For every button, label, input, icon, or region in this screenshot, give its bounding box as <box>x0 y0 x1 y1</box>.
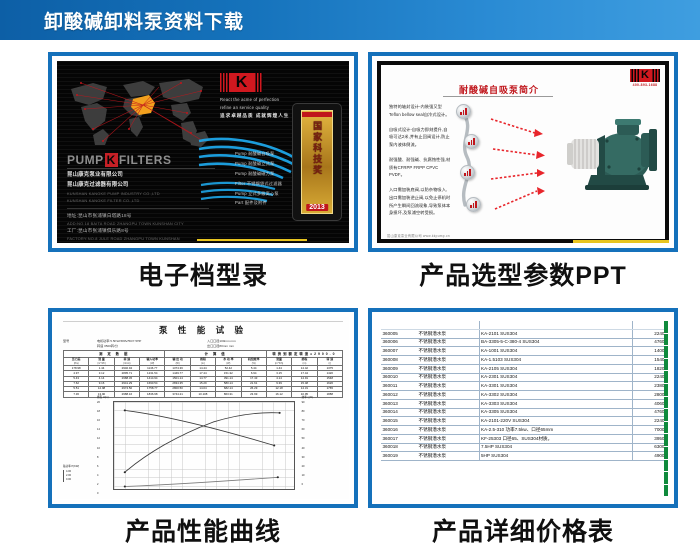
address-2: 工厂:昆山市张浦镇俱乐路8号 <box>67 227 219 235</box>
slogan-en-1: React the acme of perfection <box>220 96 289 104</box>
table-row: 360012不锈钢潜水泵KA-3302 SUS3042800 <box>381 391 666 400</box>
performance-data-table: 测 定 数 据 计 算 值 转换到额定转速=2900.0 压力差(Pa) 流 量… <box>63 350 343 397</box>
price-image-frame[interactable]: 360005不锈钢潜水泵KA-2101 SUS3042240 360006不锈钢… <box>368 308 678 508</box>
performance-chart: 扬程 H(m) 20 18 16 14 12 10 8 6 <box>63 395 343 496</box>
axis-tick: 0 <box>302 484 313 493</box>
price-spreadsheet: 360005不锈钢潜水泵KA-2101 SUS3042240 360006不锈钢… <box>377 317 669 499</box>
bullet-marker <box>456 104 471 119</box>
efficiency-curve <box>125 413 280 473</box>
chart-curves <box>114 402 294 489</box>
cell-amount <box>632 321 666 329</box>
address-1: 地址:昆山市张浦镇白塔路18号 <box>67 212 219 220</box>
vertical-scrollbar[interactable] <box>664 321 668 496</box>
yellow-accent-strip <box>573 240 669 243</box>
card-catalog[interactable]: PUMPKFILTERS 昆山康克泵业有限公司 昆山康克过滤器有限公司 KUNS… <box>48 52 358 289</box>
performance-test-sheet: 泵 性 能 试 验 型号 电机功率:5.5KW/380V/50/7.5HP 转速… <box>57 317 349 499</box>
ppt-logo-block: K 400-893-1688 <box>630 69 660 87</box>
table-column-header-row: 压力差(Pa) 流 量(m^3/h) 转 速(r/min) 输入功率(W) 输 … <box>64 357 343 365</box>
sheet-title: 泵 性 能 试 验 <box>63 324 343 336</box>
catalog-cover-image: PUMPKFILTERS 昆山康克泵业有限公司 昆山康克过滤器有限公司 KUNS… <box>57 61 349 243</box>
sheet-meta-row: 型号 电机功率:5.5KW/380V/50/7.5HP 转速 3500转/分 入… <box>63 339 343 348</box>
feature-item: Filter 不锈钢袋式过滤器 <box>235 179 282 189</box>
ppt-paragraph: 独特的轴封设计-内装强又型Teflon bellow seal自冷式设计。 <box>389 103 451 119</box>
logo-letter: K <box>229 73 254 92</box>
card-caption-catalog: 电子档型录 <box>48 264 358 289</box>
slogan-cn: 追求卓越品质 成就辉煌人生 <box>220 112 289 120</box>
ppt-footnote: 昆山康克泵业有限公司 www.kkpump.cn <box>387 233 450 238</box>
page-header: 卸酸碱卸料泵资料下载 <box>0 0 700 40</box>
col-head: 机组效率(%) <box>241 357 266 365</box>
feature-item: Pump 耐酸碱立式泵 <box>235 159 282 169</box>
power-axis-caption: 轴功率 P(KW) <box>63 465 79 469</box>
divider <box>67 168 215 169</box>
col-head: 转 速(r/min) <box>114 357 139 365</box>
logo-hotline: 400-893-1688 <box>630 83 660 87</box>
address-en-1: ADD:NO.18 BAITA ROAD ZHANGPU TOWN KUNSHA… <box>67 220 219 227</box>
table-row: 360005不锈钢潜水泵KA-2101 SUS3042240 <box>381 329 666 338</box>
bullet-marker <box>466 197 481 212</box>
cell-spec <box>479 321 632 329</box>
table-row: 360017不锈钢潜水泵KF-25303 口径65、SUS304材质。3950 <box>381 434 666 443</box>
meta-model-label: 型号 <box>63 339 97 348</box>
col-head: 压力差(Pa) <box>64 357 89 365</box>
price-table-body: 360005不锈钢潜水泵KA-2101 SUS3042240 360006不锈钢… <box>381 321 666 461</box>
table-row: 360015不锈钢潜水泵KA-2101-220V SUS3042240 <box>381 417 666 426</box>
axis-tick: 4 <box>97 475 109 484</box>
card-performance-curve[interactable]: 泵 性 能 试 验 型号 电机功率:5.5KW/380V/50/7.5HP 转速… <box>48 308 358 545</box>
divider <box>63 321 343 322</box>
table-row: 360009不锈钢潜水泵KA-2105 SUS3041820 <box>381 364 666 373</box>
ppt-bullet-chain <box>451 101 493 219</box>
col-head: 输入功率(W) <box>140 357 165 365</box>
right-axis-ticks: 90 80 70 60 50 40 30 20 10 0 <box>302 402 313 494</box>
head-curve <box>125 410 274 445</box>
feature-item: Pump 耐酸碱磁力泵 <box>235 169 282 179</box>
meta-motor-block: 电机功率:5.5KW/380V/50/7.5HP 转速 3500转/分 <box>97 339 207 348</box>
bullet-marker <box>460 165 475 180</box>
axis-tick: 6 <box>97 466 109 475</box>
col-head: 流量(m^3/h) <box>266 357 291 365</box>
power-axis-tick: 0.00 <box>63 478 79 482</box>
page-title: 卸酸碱卸料泵资料下载 <box>44 7 244 34</box>
chart-right-axis: 效率 η(%) 90 80 70 60 50 40 30 20 <box>302 397 313 493</box>
bullet-marker <box>464 134 479 149</box>
col-head: 扬程(m) <box>190 357 215 365</box>
ppt-slide-title: 耐酸碱自吸泵简介 <box>459 83 539 96</box>
slogan-en-2: refine an service quality <box>220 104 289 112</box>
col-head: 水 功 率(W) <box>216 357 241 365</box>
meta-motor-speed: 转速 3500转/分 <box>97 344 207 349</box>
chart-plot-area <box>113 401 295 490</box>
award-banner: 国家科技奖 2013 <box>292 103 342 221</box>
red-dashed-arrows <box>489 103 555 221</box>
telephone-1: TEL:0512-57466648 <box>67 242 219 243</box>
logo-letter: K <box>639 69 651 82</box>
ppt-paragraph: 耐强酸、耐强碱、抗腐蚀性强,材质有CFRPP FRPP CPVC PVDF。 <box>389 156 451 179</box>
ppt-body-text: 独特的轴封设计-内装强又型Teflon bellow seal自冷式设计。 自吸… <box>389 103 451 224</box>
table-row: 360008不锈钢潜水泵KA-1.5103 SUS3041540 <box>381 356 666 365</box>
company-name-1: 昆山康克泵业有限公司 <box>67 172 123 178</box>
axis-tick: 2 <box>97 484 109 493</box>
col-head: 流 量(m^3/h) <box>89 357 114 365</box>
table-row: 360018不锈钢潜水泵7.5HP SUS3046300 <box>381 443 666 452</box>
page-root: 卸酸碱卸料泵资料下载 <box>0 0 700 552</box>
power-curve <box>125 477 278 486</box>
left-axis-ticks: 20 18 16 14 12 10 8 6 4 2 <box>97 402 109 499</box>
col-head: 扬程(m) <box>292 357 317 365</box>
company-name-2: 昆山康克过滤器有限公司 <box>67 182 129 188</box>
table-row: 360014不锈钢潜水泵KA-3305 SUS3044760 <box>381 408 666 417</box>
axis-tick: 0 <box>97 493 109 499</box>
ppt-slide-image: K 400-893-1688 耐酸碱自吸泵简介 独特的轴封设计-内装强又型Tef… <box>377 61 669 243</box>
catalog-logo-block: K React the acme of perfection refine an… <box>220 73 289 120</box>
axis-tick: 8 <box>97 457 109 466</box>
card-ppt[interactable]: K 400-893-1688 耐酸碱自吸泵简介 独特的轴封设计-内装强又型Tef… <box>368 52 678 289</box>
meta-outlet: 出口口径80mm mm <box>207 344 343 349</box>
price-table: 360005不锈钢潜水泵KA-2101 SUS3042240 360006不锈钢… <box>381 321 666 461</box>
meta-port-block: 入口口径100mm mm 出口口径80mm mm <box>207 339 343 348</box>
card-caption-price: 产品详细价格表 <box>368 520 678 545</box>
ppt-image-frame[interactable]: K 400-893-1688 耐酸碱自吸泵简介 独特的轴封设计-内装强又型Tef… <box>368 52 678 252</box>
table-row: 360006不锈钢潜水泵BA-3305-5-C-380-4 SUS3044760 <box>381 338 666 347</box>
right-axis-caption: 效率 η(%) <box>302 397 313 400</box>
left-axis-caption: 扬程 H(m) <box>97 397 109 400</box>
table-row: 360016不锈钢潜水泵KA-2.5-310 功率7.5kw、口径65mm700… <box>381 426 666 435</box>
ppt-paragraph: 自吸式设计-自吸力即刻提升,自吸可达2米,并有止回阀设计,防止泵内液体倒流。 <box>389 126 451 149</box>
feature-item: Part 配件及附件 <box>235 198 282 208</box>
download-card-grid: PUMPKFILTERS 昆山康克泵业有限公司 昆山康克过滤器有限公司 KUNS… <box>0 40 700 552</box>
axis-tick: 10 <box>302 475 313 484</box>
col-head: 输 出 功(W) <box>165 357 190 365</box>
feature-item: Pump 耐酸碱自吸泵 <box>235 149 282 159</box>
yellow-accent-strip <box>197 239 307 241</box>
table-row: 360013不锈钢潜水泵KA-3303 SUS3044060 <box>381 399 666 408</box>
card-caption-curve: 产品性能曲线 <box>48 520 358 545</box>
col-head: 转 速(r) <box>317 357 342 365</box>
divider <box>443 96 553 97</box>
k-mark: K <box>105 153 118 167</box>
chart-power-axis: 轴功率 P(KW) 4.00 2.00 0.00 <box>63 465 79 482</box>
catalog-feature-list: Pump 耐酸碱自吸泵 Pump 耐酸碱立式泵 Pump 耐酸碱磁力泵 Filt… <box>235 149 282 208</box>
pump-product-photo <box>557 105 661 201</box>
card-caption-ppt: 产品选型参数PPT <box>368 264 678 289</box>
table-row: 360007不锈钢潜水泵KA-1001 SUS3041400 <box>381 347 666 356</box>
catalog-image-frame[interactable]: PUMPKFILTERS 昆山康克泵业有限公司 昆山康克过滤器有限公司 KUNS… <box>48 52 358 252</box>
award-title: 国家科技奖 <box>312 121 322 176</box>
award-year: 2013 <box>306 204 328 211</box>
table-row: 360010不锈钢潜水泵KA-2301 SUS3042240 <box>381 373 666 382</box>
performance-table-body: 测 定 数 据 计 算 值 转换到额定转速=2900.0 压力差(Pa) 流 量… <box>64 351 343 397</box>
chart-left-axis: 扬程 H(m) 20 18 16 14 12 10 8 6 <box>97 397 109 499</box>
table-row: 360011不锈钢潜水泵KA-3301 SUS3042380 <box>381 382 666 391</box>
cell-name <box>417 321 479 329</box>
axis-tick: 10 <box>97 448 109 457</box>
cell-code <box>381 321 417 329</box>
world-map-graphic <box>63 69 213 153</box>
card-price-list[interactable]: 360005不锈钢潜水泵KA-2101 SUS3042240 360006不锈钢… <box>368 308 678 545</box>
catalog-brand-wordmark: PUMPKFILTERS <box>67 153 217 167</box>
ppt-paragraph: 入口需加装底阀,以防杂物吸入,出口需加装逆止阀,以免止停机时所产生瞬间回流现象,… <box>389 186 451 217</box>
catalog-slogan-block: React the acme of perfection refine an s… <box>220 96 289 120</box>
kk-logo-icon: K <box>630 69 660 82</box>
kk-logo-icon: K <box>220 73 263 92</box>
feature-item: Pump 立式多级离心泵 <box>235 189 282 199</box>
table-row-partial <box>381 321 666 329</box>
performance-image-frame[interactable]: 泵 性 能 试 验 型号 电机功率:5.5KW/380V/50/7.5HP 转速… <box>48 308 358 508</box>
table-row: 360019不锈钢潜水泵5HP SUS3044900 <box>381 452 666 461</box>
